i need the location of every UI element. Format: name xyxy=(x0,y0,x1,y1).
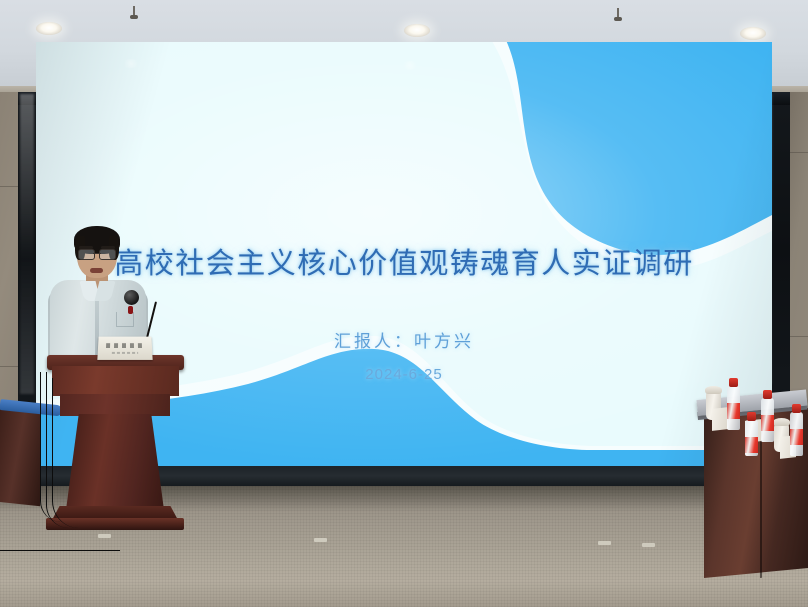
podium-column xyxy=(66,414,164,510)
sprinkler-1 xyxy=(133,6,135,16)
floor-mark-3 xyxy=(598,541,611,545)
cable-3 xyxy=(52,378,79,528)
left-desk-body xyxy=(0,406,40,506)
bottle-cap-2 xyxy=(763,390,772,399)
floor-mark-2 xyxy=(314,538,327,542)
water-bottle-4 xyxy=(745,420,758,456)
bottle-cap-4 xyxy=(747,412,756,421)
cup-lid-1 xyxy=(705,386,722,394)
slide-title: 高校社会主义核心价值观铸魂育人实证调研 xyxy=(36,240,772,282)
bottle-label-3 xyxy=(790,429,803,445)
sprinkler-2 xyxy=(617,8,619,18)
bottle-label-4 xyxy=(745,437,758,453)
bottle-label-1 xyxy=(727,403,740,419)
glasses-icon xyxy=(78,249,116,258)
bottle-cap-1 xyxy=(729,378,738,387)
nameplate-text-line xyxy=(106,343,144,348)
cable-floor xyxy=(0,520,120,551)
speaker-mouth xyxy=(90,268,103,273)
lapel-mic-icon xyxy=(128,306,133,314)
water-bottle-3 xyxy=(790,412,803,456)
bottle-label-2 xyxy=(761,415,774,431)
microphone-icon xyxy=(124,290,139,305)
name-card-1 xyxy=(712,407,728,431)
floor-mark-4 xyxy=(642,543,655,547)
water-bottle-1 xyxy=(727,386,740,430)
downlight-1 xyxy=(36,22,62,35)
top-wave xyxy=(504,42,772,255)
bezel-highlight-left xyxy=(20,94,34,394)
downlight-3 xyxy=(740,27,766,40)
podium-nameplate xyxy=(97,337,152,360)
water-bottle-2 xyxy=(761,398,774,442)
speaker-shirt-pocket xyxy=(116,312,134,327)
presentation-photo-scene: 高校社会主义核心价值观铸魂育人实证调研 汇报人：叶方兴 2024-6-25 xyxy=(0,0,808,607)
downlight-2 xyxy=(404,24,430,37)
nameplate-subtext-line xyxy=(112,352,138,354)
cup-lid-2 xyxy=(773,418,790,426)
bottle-cap-3 xyxy=(792,404,801,413)
